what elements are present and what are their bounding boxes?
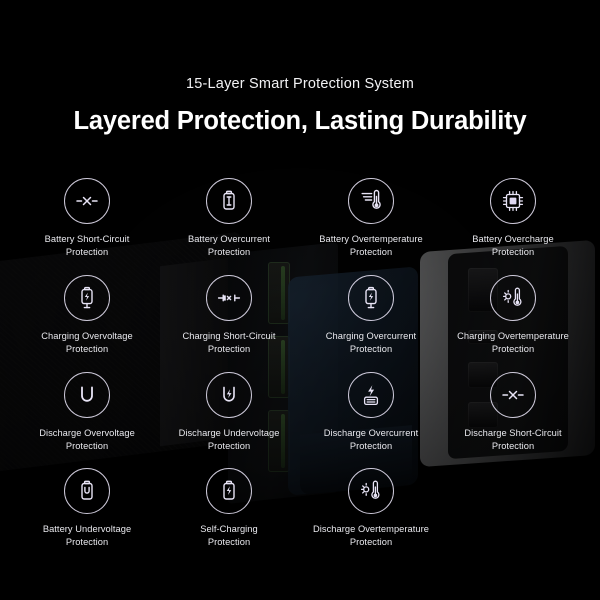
protection-row: Discharge Overvoltage Protection Dischar… [16, 372, 584, 468]
protection-label: Battery Overcurrent Protection [159, 233, 299, 258]
protection-label: Charging Overvoltage Protection [17, 330, 157, 355]
protection-item-battery-overtemperature: Battery Overtemperature Protection [300, 178, 442, 275]
short-circuit-x-icon [64, 178, 110, 224]
protection-label: Charging Overcurrent Protection [301, 330, 441, 355]
protection-label: Charging Short-Circuit Protection [159, 330, 299, 355]
protection-label: Self-Charging Protection [159, 523, 299, 548]
protection-item-self-charging: Self-Charging Protection [158, 468, 300, 564]
chip-icon [490, 178, 536, 224]
battery-plug-bolt-icon [348, 275, 394, 321]
battery-plug-bolt-icon [64, 275, 110, 321]
protection-row: Charging Overvoltage Protection [16, 275, 584, 372]
protection-item-battery-overcharge: Battery Overcharge Protection [442, 178, 584, 275]
protection-item-discharge-overvoltage: Discharge Overvoltage Protection [16, 372, 158, 468]
protection-item-charging-overvoltage: Charging Overvoltage Protection [16, 275, 158, 372]
protection-item-battery-undervoltage: Battery Undervoltage Protection [16, 468, 158, 564]
protection-row: Battery Short-Circuit Protection Battery… [16, 178, 584, 275]
protection-label: Discharge Overcurrent Protection [301, 427, 441, 452]
protection-item-battery-overcurrent: Battery Overcurrent Protection [158, 178, 300, 275]
letter-u-icon [64, 372, 110, 418]
protection-item-discharge-overcurrent: Discharge Overcurrent Protection [300, 372, 442, 468]
protection-item-battery-short-circuit: Battery Short-Circuit Protection [16, 178, 158, 275]
battery-current-icon [206, 178, 252, 224]
protection-item-charging-overtemperature: Charging Overtemperature Protection [442, 275, 584, 372]
protection-item-empty [442, 468, 584, 564]
protection-item-discharge-short-circuit: Discharge Short-Circuit Protection [442, 372, 584, 468]
eyebrow-text: 15-Layer Smart Protection System [0, 76, 600, 92]
protection-item-charging-overcurrent: Charging Overcurrent Protection [300, 275, 442, 372]
plug-disconnect-x-icon [206, 275, 252, 321]
short-circuit-x-icon [490, 372, 536, 418]
letter-u-bolt-icon [206, 372, 252, 418]
battery-bolt-icon [206, 468, 252, 514]
protection-label: Discharge Overtemperature Protection [301, 523, 441, 548]
protection-label: Battery Overcharge Protection [443, 233, 583, 258]
protection-label: Battery Overtemperature Protection [301, 233, 441, 258]
protection-label: Discharge Short-Circuit Protection [443, 427, 583, 452]
page-title: Layered Protection, Lasting Durability [0, 107, 600, 136]
protection-label: Battery Undervoltage Protection [17, 523, 157, 548]
protection-label: Charging Overtemperature Protection [443, 330, 583, 355]
bolt-over-battery-icon [348, 372, 394, 418]
promo-banner: 15-Layer Smart Protection System Layered… [0, 0, 600, 600]
protection-label: Discharge Overvoltage Protection [17, 427, 157, 452]
sun-thermometer-icon [348, 468, 394, 514]
protection-label: Battery Short-Circuit Protection [17, 233, 157, 258]
protection-row: Battery Undervoltage Protection Self-Cha… [16, 468, 584, 564]
thermometer-heat-icon [348, 178, 394, 224]
battery-u-icon [64, 468, 110, 514]
protection-item-discharge-overtemperature: Discharge Overtemperature Protection [300, 468, 442, 564]
sun-thermometer-icon [490, 275, 536, 321]
protection-label: Discharge Undervoltage Protection [159, 427, 299, 452]
protection-grid: Battery Short-Circuit Protection Battery… [16, 178, 584, 564]
protection-item-charging-short-circuit: Charging Short-Circuit Protection [158, 275, 300, 372]
protection-item-discharge-undervoltage: Discharge Undervoltage Protection [158, 372, 300, 468]
